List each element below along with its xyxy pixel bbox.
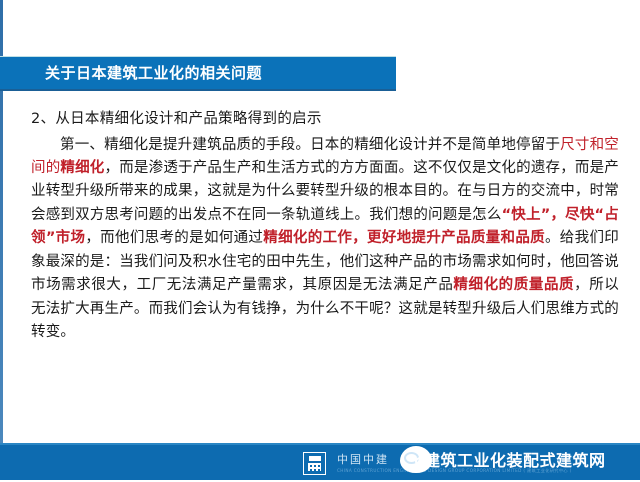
emblem-grid — [308, 463, 321, 471]
slide-title-bar: 关于日本建筑工业化的相关问题 — [0, 57, 396, 91]
china-construction-emblem-icon — [303, 452, 326, 475]
slide-body: 2、从日本精细化设计和产品策略得到的启示 第一、精细化是提升建筑品质的手段。日本… — [31, 112, 619, 345]
footer-site-name: 建筑工业化装配式建筑网 — [424, 450, 606, 472]
body-segment: 精细化的工作，更好地提升产品质量和品质 — [263, 230, 545, 246]
emblem-top-bar — [309, 456, 321, 461]
slide-footer: 中国中建 CHINA CONSTRUCTION ENGINEERING DESI… — [0, 443, 640, 480]
slide: 关于日本建筑工业化的相关问题 2、从日本精细化设计和产品策略得到的启示 第一、精… — [0, 0, 640, 480]
body-segment: ，而他们思考的是如何通过 — [85, 230, 263, 246]
body-paragraph: 第一、精细化是提升建筑品质的手段。日本的精细化设计并不是简单地停留于尺寸和空间的… — [31, 134, 619, 345]
body-segment: 精细化 — [60, 160, 104, 176]
body-segment: 精细化的质量品质 — [453, 277, 574, 293]
body-segment: 第一、精细化是提升建筑品质的手段。日本的精细化设计并不是简单地停留于 — [60, 137, 560, 153]
section-heading: 2、从日本精细化设计和产品策略得到的启示 — [31, 112, 619, 127]
slide-title: 关于日本建筑工业化的相关问题 — [0, 66, 262, 81]
